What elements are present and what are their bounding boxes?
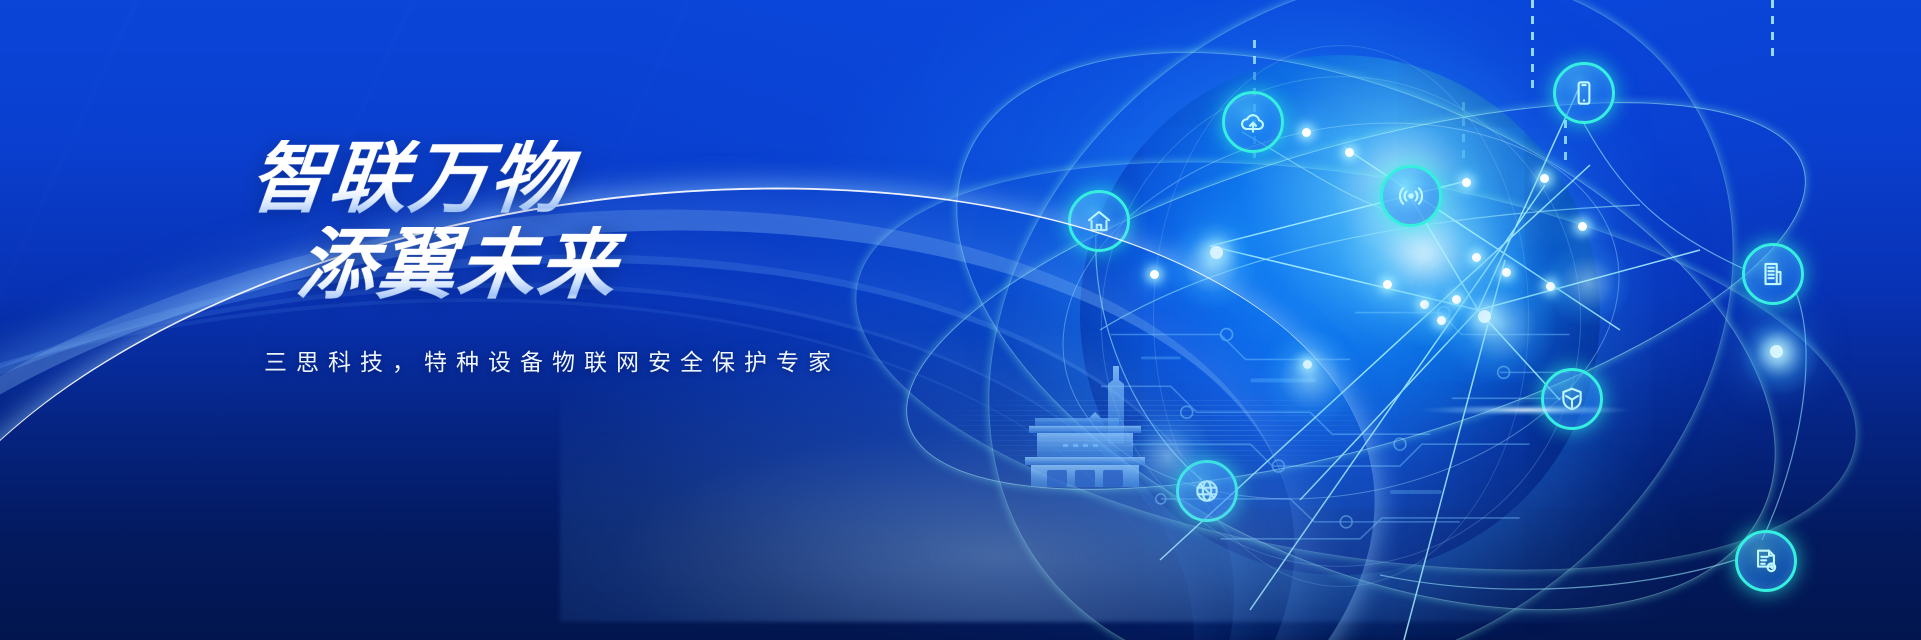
- network-node: [1302, 128, 1311, 137]
- hero-subtitle: 三思科技，特种设备物联网安全保护专家: [264, 343, 870, 377]
- headline-line-1: 智联万物: [246, 140, 874, 216]
- glow-blob: [1740, 315, 1820, 395]
- dotted-column: [1771, 0, 1774, 64]
- building-icon[interactable]: [1742, 243, 1804, 305]
- trail-spark: [1421, 405, 1631, 415]
- headline-line-2: 添翼未来: [294, 226, 874, 302]
- network-node: [1540, 174, 1549, 183]
- hero-banner: 智联万物 添翼未来 三思科技，特种设备物联网安全保护专家: [0, 0, 1921, 640]
- hero-copy: 智联万物 添翼未来 三思科技，特种设备物联网安全保护专家: [250, 140, 870, 377]
- glow-blob: [1440, 270, 1560, 380]
- report-document-icon[interactable]: [1735, 530, 1797, 592]
- cloud-upload-icon[interactable]: [1222, 91, 1284, 153]
- signal-wave-icon[interactable]: [1380, 165, 1442, 227]
- network-node: [1420, 300, 1429, 309]
- network-node: [1462, 178, 1471, 187]
- network-node: [1472, 253, 1481, 262]
- mobile-phone-icon[interactable]: [1553, 62, 1615, 124]
- network-node: [1383, 280, 1392, 289]
- network-node: [1578, 222, 1587, 231]
- shield-icon[interactable]: [1541, 368, 1603, 430]
- network-node: [1345, 148, 1354, 157]
- glow-blob: [1545, 240, 1631, 326]
